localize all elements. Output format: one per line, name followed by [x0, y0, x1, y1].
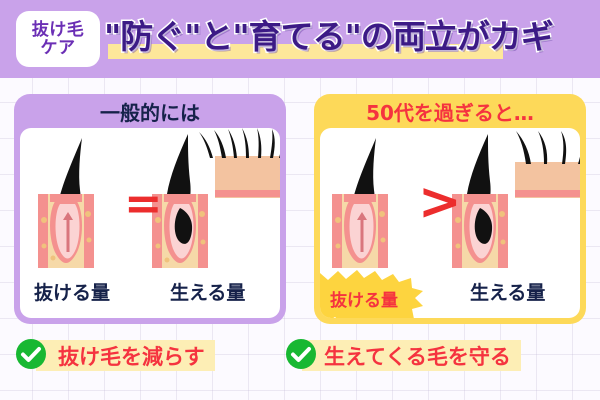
check-circle-icon	[284, 337, 318, 371]
page-title: "防ぐ"と"育てる"の両立がカギ	[104, 10, 596, 58]
comparison-operator-general: =	[124, 180, 163, 226]
shed-amount-burst-badge: 抜ける量	[320, 269, 424, 318]
card-over-fifties-body: > 抜ける量 生える量	[320, 128, 580, 318]
follicle-growing-icon	[152, 128, 280, 268]
brand-badge: 抜け毛 ケア	[16, 11, 100, 67]
card-over-fifties: 50代を過ぎると…	[314, 94, 586, 324]
brand-badge-line2: ケア	[41, 39, 76, 57]
follicle-shedding-icon	[332, 138, 388, 268]
brand-badge-line1: 抜け毛	[32, 21, 85, 39]
comparison-operator-over-fifties: >	[418, 176, 462, 228]
card-over-fifties-heading: 50代を過ぎると…	[314, 94, 586, 128]
bottom-message-reduce-shedding: 抜け毛を減らす	[14, 334, 286, 378]
message-band-reduce: 抜け毛を減らす	[36, 340, 215, 371]
label-grow-amount-general: 生える量	[170, 278, 245, 305]
follicle-growing-icon	[452, 131, 580, 268]
message-text-reduce: 抜け毛を減らす	[58, 341, 205, 371]
card-general-heading: 一般的には	[14, 94, 286, 128]
follicle-shedding-icon	[38, 138, 94, 268]
title-container: "防ぐ"と"育てる"の両立がカギ	[104, 8, 594, 70]
card-general-body: = 抜ける量 生える量	[20, 128, 280, 318]
label-grow-amount-over-fifties: 生える量	[470, 278, 545, 305]
message-band-protect: 生えてくる毛を守る	[302, 340, 521, 371]
check-circle-icon	[14, 337, 48, 371]
bottom-message-protect-growth: 生えてくる毛を守る	[284, 334, 594, 378]
page-header: 抜け毛 ケア "防ぐ"と"育てる"の両立がカギ	[0, 0, 600, 78]
shed-amount-burst-label: 抜ける量	[330, 286, 398, 311]
label-shed-amount-general: 抜ける量	[34, 278, 110, 305]
message-text-protect: 生えてくる毛を守る	[324, 341, 511, 371]
card-general: 一般的には	[14, 94, 286, 324]
